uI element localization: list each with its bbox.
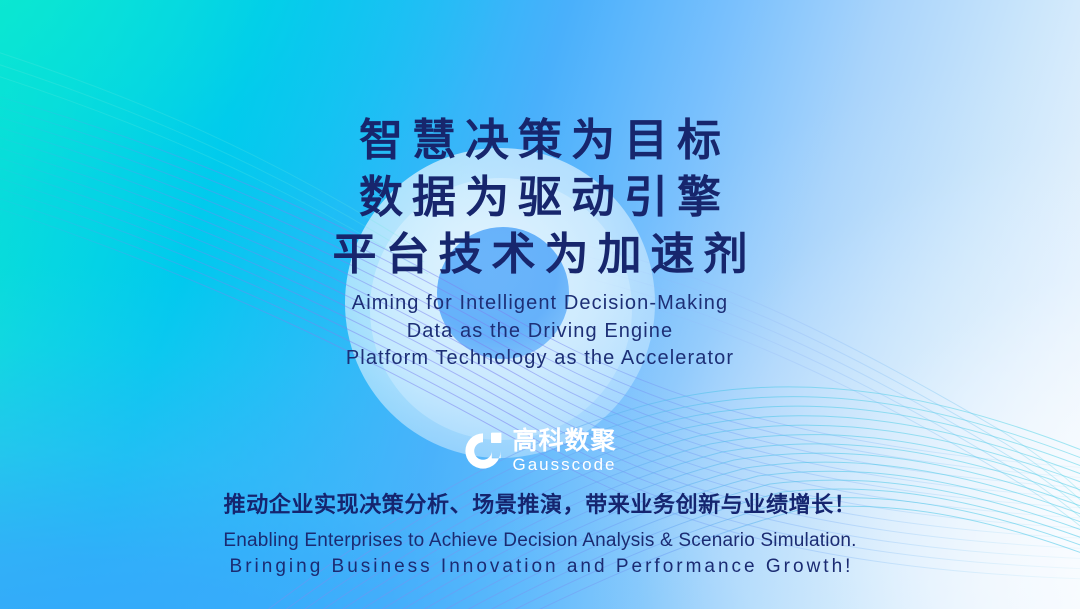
subheadline-line-3: Platform Technology as the Accelerator [346, 345, 734, 373]
headline: 智慧决策为目标 数据为驱动引擎 平台技术为加速剂 [324, 112, 757, 283]
subheadline-line-1: Aiming for Intelligent Decision-Making [346, 290, 734, 318]
headline-line-2: 数据为驱动引擎 [324, 169, 757, 226]
brand-logo: 高科数聚 Gausscode [463, 428, 616, 475]
brand-wordmark: 高科数聚 Gausscode [512, 428, 616, 475]
tagline-english: Enabling Enterprises to Achieve Decision… [223, 528, 856, 580]
subheadline: Aiming for Intelligent Decision-Making D… [346, 290, 734, 373]
gausscode-logo-mark [463, 431, 503, 471]
headline-line-1: 智慧决策为目标 [324, 112, 757, 169]
brand-name-en: Gausscode [512, 455, 616, 475]
banner-content: 智慧决策为目标 数据为驱动引擎 平台技术为加速剂 Aiming for Inte… [0, 0, 1080, 609]
tagline-english-line-2: Bringing Business Innovation and Perform… [223, 554, 856, 580]
headline-line-3: 平台技术为加速剂 [324, 226, 757, 283]
brand-name-cn: 高科数聚 [512, 428, 616, 454]
subheadline-line-2: Data as the Driving Engine [346, 318, 734, 346]
tagline-chinese: 推动企业实现决策分析、场景推演，带来业务创新与业绩增长！ [224, 491, 857, 521]
promo-banner: 智慧决策为目标 数据为驱动引擎 平台技术为加速剂 Aiming for Inte… [0, 0, 1080, 609]
tagline-english-line-1: Enabling Enterprises to Achieve Decision… [223, 528, 856, 554]
